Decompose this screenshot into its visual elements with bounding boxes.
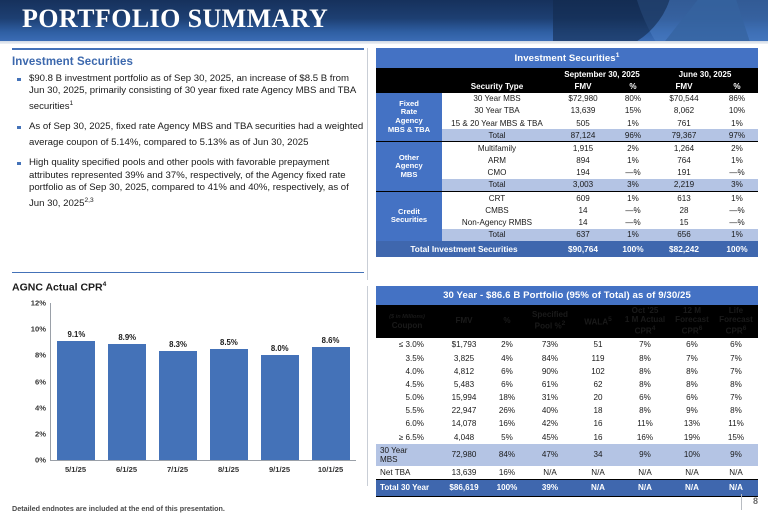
value-cell: 19% <box>670 431 714 444</box>
table-row: 4.5%5,4836%61%628%8%8% <box>376 378 758 391</box>
chart-y-tick: 10% <box>31 325 46 334</box>
value-cell: 84% <box>490 444 524 466</box>
coupon-cell: 4.5% <box>376 378 438 391</box>
value-cell: 10% <box>670 444 714 466</box>
value-cell: 6% <box>620 391 670 404</box>
chart-bar <box>159 351 197 460</box>
chart-y-tick: 12% <box>31 299 46 308</box>
value-cell: 90% <box>524 365 576 378</box>
investment-securities-grid: September 30, 2025 June 30, 2025 Securit… <box>376 68 758 257</box>
value-cell: 18% <box>490 391 524 404</box>
value-cell: 613 <box>652 192 716 205</box>
value-cell: N/A <box>714 466 758 480</box>
value-cell: 7% <box>620 338 670 351</box>
subtotal-value: 3% <box>614 179 652 192</box>
value-cell: 8% <box>670 378 714 391</box>
value-cell: 1% <box>614 155 652 167</box>
value-cell: 2% <box>490 338 524 351</box>
total-value: N/A <box>576 480 620 496</box>
chart-bar <box>261 355 299 460</box>
value-cell: 72,980 <box>438 444 490 466</box>
value-cell: —% <box>614 216 652 228</box>
value-cell: 8% <box>620 404 670 417</box>
col-header-pct-sep: % <box>614 80 652 92</box>
portfolio-col-header: ($ in Millions)Coupon <box>376 305 438 338</box>
value-cell: 3,825 <box>438 351 490 364</box>
table-row: 4.0%4,8126%90%1028%8%7% <box>376 365 758 378</box>
portfolio-total-row: Total 30 Year$86,619100%39%N/AN/AN/AN/A <box>376 480 758 496</box>
value-cell: $70,544 <box>652 93 716 105</box>
grand-total-value: $90,764 <box>552 241 614 257</box>
value-cell: 8% <box>620 351 670 364</box>
chart-y-tick: 4% <box>35 403 46 412</box>
value-cell: 4,812 <box>438 365 490 378</box>
total-value: 100% <box>490 480 524 496</box>
value-cell: 14,078 <box>438 417 490 430</box>
value-cell: 191 <box>652 167 716 179</box>
grand-total-value: 100% <box>614 241 652 257</box>
value-cell: 16% <box>620 431 670 444</box>
table-title-text: Investment Securities <box>514 53 615 64</box>
value-cell: 9% <box>620 444 670 466</box>
value-cell: 16 <box>576 417 620 430</box>
portfolio-30yr-table: 30 Year - $86.6 B Portfolio (95% of Tota… <box>376 286 758 497</box>
vertical-divider-bottom <box>367 286 368 486</box>
table-row: 5.5%22,94726%40%188%9%8% <box>376 404 758 417</box>
banner-underline <box>0 41 768 44</box>
value-cell: 62 <box>576 378 620 391</box>
value-cell: 1,915 <box>552 142 614 155</box>
grand-total-label: Total Investment Securities <box>376 241 552 257</box>
chart-bar-label: 8.9% <box>118 333 136 342</box>
subtotal-label: Total <box>442 229 552 241</box>
subtotal-value: 1% <box>716 229 758 241</box>
value-cell: 14 <box>552 216 614 228</box>
value-cell: 14 <box>552 204 614 216</box>
subtotal-value: 79,367 <box>652 129 716 142</box>
value-cell: 4,048 <box>438 431 490 444</box>
value-cell: 6% <box>490 365 524 378</box>
table-row: 5.0%15,99418%31%206%6%7% <box>376 391 758 404</box>
coupon-cell: 30 Year MBS <box>376 444 438 466</box>
value-cell: N/A <box>670 466 714 480</box>
value-cell: 8,062 <box>652 105 716 117</box>
value-cell: 16% <box>490 466 524 480</box>
horizontal-divider-left <box>12 272 364 273</box>
table-title: Investment Securities1 <box>376 48 758 68</box>
subtotal-value: 3% <box>716 179 758 192</box>
value-cell: 86% <box>716 93 758 105</box>
chart-x-axis: 5/1/256/1/257/1/258/1/259/1/2510/1/25 <box>50 465 356 474</box>
vertical-divider-top <box>367 48 368 280</box>
value-cell: 119 <box>576 351 620 364</box>
list-item: As of Sep 30, 2025, fixed rate Agency MB… <box>12 121 364 149</box>
value-cell: N/A <box>620 466 670 480</box>
portfolio-col-header: % <box>490 305 524 338</box>
security-type-cell: Non-Agency RMBS <box>442 216 552 228</box>
spacer-cell <box>376 68 442 80</box>
page-number-divider <box>741 494 742 510</box>
table-row: 30 Year MBS72,98084%47%349%10%9% <box>376 444 758 466</box>
value-cell: 6% <box>670 391 714 404</box>
spacer-cell-2 <box>442 68 552 80</box>
value-cell: 5% <box>490 431 524 444</box>
value-cell: 7% <box>714 365 758 378</box>
investment-securities-body: FixedRateAgencyMBS & TBA30 Year MBS$72,9… <box>376 93 758 257</box>
value-cell: 6% <box>670 338 714 351</box>
chart-bar <box>312 347 350 460</box>
table-row: FixedRateAgencyMBS & TBA30 Year MBS$72,9… <box>376 93 758 105</box>
value-cell: 42% <box>524 417 576 430</box>
value-cell: $1,793 <box>438 338 490 351</box>
coupon-cell: Net TBA <box>376 466 438 480</box>
portfolio-header-row: ($ in Millions)CouponFMV%SpecifiedPool %… <box>376 305 758 338</box>
value-cell: 11% <box>620 417 670 430</box>
value-cell: 102 <box>576 365 620 378</box>
chart-bar-column: 8.3% <box>159 303 197 460</box>
value-cell: 10% <box>716 105 758 117</box>
bullet-superscript: 1 <box>70 100 74 107</box>
value-cell: 16 <box>576 431 620 444</box>
chart-title: AGNC Actual CPR4 <box>12 281 364 294</box>
total-value: 39% <box>524 480 576 496</box>
subtotal-value: 3,003 <box>552 179 614 192</box>
bullet-text: $90.8 B investment portfolio as of Sep 3… <box>29 73 356 112</box>
value-cell: 80% <box>614 93 652 105</box>
table-row: ≤ 3.0%$1,7932%73%517%6%6% <box>376 338 758 351</box>
chart-bar-column: 8.5% <box>210 303 248 460</box>
total-value: N/A <box>620 480 670 496</box>
value-cell: 61% <box>524 378 576 391</box>
subtotal-label: Total <box>442 179 552 192</box>
value-cell: —% <box>716 204 758 216</box>
chart-y-tick: 8% <box>35 351 46 360</box>
chart-bar-column: 8.0% <box>261 303 299 460</box>
value-cell: 15% <box>614 105 652 117</box>
coupon-cell: 5.5% <box>376 404 438 417</box>
value-cell: 45% <box>524 431 576 444</box>
bullet-list: $90.8 B investment portfolio as of Sep 3… <box>12 73 364 210</box>
table-header-columns: Security Type FMV % FMV % <box>376 80 758 92</box>
value-cell: 4% <box>490 351 524 364</box>
chart-bar-label: 8.5% <box>220 338 238 347</box>
period-header-jun: June 30, 2025 <box>652 68 758 80</box>
security-type-cell: 30 Year TBA <box>442 105 552 117</box>
total-value: N/A <box>670 480 714 496</box>
value-cell: 28 <box>652 204 716 216</box>
portfolio-body: ≤ 3.0%$1,7932%73%517%6%6%3.5%3,8254%84%1… <box>376 338 758 496</box>
chart-bar <box>57 341 95 460</box>
value-cell: —% <box>716 167 758 179</box>
value-cell: N/A <box>576 466 620 480</box>
bullet-text: As of Sep 30, 2025, fixed rate Agency MB… <box>29 121 363 148</box>
subtotal-value: 656 <box>652 229 716 241</box>
value-cell: 16% <box>490 417 524 430</box>
col-header-pct-jun: % <box>716 80 758 92</box>
value-cell: 5,483 <box>438 378 490 391</box>
period-header-sep: September 30, 2025 <box>552 68 652 80</box>
chart-bar-column: 9.1% <box>57 303 95 460</box>
list-item: High quality specified pools and other p… <box>12 157 364 210</box>
table-title-superscript: 1 <box>616 52 620 59</box>
chart-plot-area: 0%2%4%6%8%10%12% 9.1%8.9%8.3%8.5%8.0%8.6… <box>50 303 356 461</box>
chart-x-tick: 8/1/25 <box>210 465 248 474</box>
security-type-cell: 30 Year MBS <box>442 93 552 105</box>
value-cell: 609 <box>552 192 614 205</box>
investment-securities-text-panel: Investment Securities $90.8 B investment… <box>12 48 364 218</box>
value-cell: 47% <box>524 444 576 466</box>
security-type-cell: Multifamily <box>442 142 552 155</box>
value-cell: 9% <box>714 444 758 466</box>
value-cell: 13,639 <box>438 466 490 480</box>
bullet-superscript: 2,3 <box>84 197 93 204</box>
row-group-label: CreditSecurities <box>376 192 442 241</box>
value-cell: 2% <box>614 142 652 155</box>
value-cell: —% <box>716 216 758 228</box>
portfolio-col-header: 12 MForecastCPR6 <box>670 305 714 338</box>
security-type-cell: ARM <box>442 155 552 167</box>
security-type-cell: CMBS <box>442 204 552 216</box>
value-cell: 6% <box>490 378 524 391</box>
chart-bar-label: 8.3% <box>169 340 187 349</box>
subtotal-value: 97% <box>716 129 758 142</box>
coupon-cell: ≥ 6.5% <box>376 431 438 444</box>
agnc-actual-cpr-chart: AGNC Actual CPR4 0%2%4%6%8%10%12% 9.1%8.… <box>12 281 364 486</box>
value-cell: 7% <box>714 351 758 364</box>
grand-total-value: 100% <box>716 241 758 257</box>
table-row: Net TBA13,63916%N/AN/AN/AN/AN/A <box>376 466 758 480</box>
value-cell: 7% <box>670 351 714 364</box>
subtotal-value: 1% <box>614 229 652 241</box>
panel-top-rule <box>12 48 364 50</box>
chart-bar-column: 8.9% <box>108 303 146 460</box>
chart-title-superscript: 4 <box>103 281 107 288</box>
coupon-cell: 6.0% <box>376 417 438 430</box>
value-cell: 194 <box>552 167 614 179</box>
value-cell: 51 <box>576 338 620 351</box>
value-cell: 31% <box>524 391 576 404</box>
security-type-cell: CMO <box>442 167 552 179</box>
value-cell: —% <box>614 167 652 179</box>
chart-bar-label: 9.1% <box>68 330 86 339</box>
value-cell: —% <box>614 204 652 216</box>
value-cell: 1% <box>614 117 652 129</box>
value-cell: 73% <box>524 338 576 351</box>
table-header-periods: September 30, 2025 June 30, 2025 <box>376 68 758 80</box>
spacer-cell-3 <box>376 80 442 92</box>
chart-bar <box>108 344 146 460</box>
value-cell: 20 <box>576 391 620 404</box>
value-cell: 2% <box>716 142 758 155</box>
security-type-cell: CRT <box>442 192 552 205</box>
col-header-fmv-jun: FMV <box>652 80 716 92</box>
value-cell: 1% <box>716 117 758 129</box>
value-cell: 40% <box>524 404 576 417</box>
list-item: $90.8 B investment portfolio as of Sep 3… <box>12 73 364 113</box>
value-cell: 894 <box>552 155 614 167</box>
total-value: N/A <box>714 480 758 496</box>
portfolio-col-header: FMV <box>438 305 490 338</box>
coupon-cell: ≤ 3.0% <box>376 338 438 351</box>
value-cell: 26% <box>490 404 524 417</box>
value-cell: 8% <box>620 365 670 378</box>
value-cell: 8% <box>620 378 670 391</box>
subtotal-value: 87,124 <box>552 129 614 142</box>
value-cell: 1% <box>716 155 758 167</box>
value-cell: 8% <box>714 404 758 417</box>
grand-total-value: $82,242 <box>652 241 716 257</box>
value-cell: 1,264 <box>652 142 716 155</box>
chart-bar <box>210 349 248 460</box>
chart-bars: 9.1%8.9%8.3%8.5%8.0%8.6% <box>51 303 356 460</box>
value-cell: 9% <box>670 404 714 417</box>
subtotal-value: 2,219 <box>652 179 716 192</box>
investment-securities-table: Investment Securities1 September 30, 202… <box>376 48 758 257</box>
value-cell: 8% <box>714 378 758 391</box>
value-cell: 13% <box>670 417 714 430</box>
value-cell: 15% <box>714 431 758 444</box>
table-row: 6.0%14,07816%42%1611%13%11% <box>376 417 758 430</box>
value-cell: 15,994 <box>438 391 490 404</box>
chart-x-tick: 7/1/25 <box>159 465 197 474</box>
value-cell: 6% <box>714 338 758 351</box>
chart-x-tick: 6/1/25 <box>108 465 146 474</box>
portfolio-col-header: LifeForecastCPR6 <box>714 305 758 338</box>
total-label: Total 30 Year <box>376 480 438 496</box>
chart-y-tick: 6% <box>35 377 46 386</box>
table-row: OtherAgencyMBSMultifamily1,9152%1,2642% <box>376 142 758 155</box>
table-row: ≥ 6.5%4,0485%45%1616%19%15% <box>376 431 758 444</box>
value-cell: 34 <box>576 444 620 466</box>
value-cell: 1% <box>614 192 652 205</box>
value-cell: 764 <box>652 155 716 167</box>
panel-heading: Investment Securities <box>12 56 364 68</box>
col-header-security-type: Security Type <box>442 80 552 92</box>
value-cell: 1% <box>716 192 758 205</box>
chart-x-tick: 9/1/25 <box>261 465 299 474</box>
table-row: 3.5%3,8254%84%1198%7%7% <box>376 351 758 364</box>
value-cell: 761 <box>652 117 716 129</box>
value-cell: 8% <box>670 365 714 378</box>
portfolio-table-title: 30 Year - $86.6 B Portfolio (95% of Tota… <box>376 286 758 305</box>
portfolio-col-header: SpecifiedPool %2 <box>524 305 576 338</box>
chart-bar-column: 8.6% <box>312 303 350 460</box>
units-note: ($ in Millions) <box>378 313 436 322</box>
subtotal-value: 96% <box>614 129 652 142</box>
chart-x-tick: 10/1/25 <box>312 465 350 474</box>
value-cell: N/A <box>524 466 576 480</box>
page-title: PORTFOLIO SUMMARY <box>22 4 328 34</box>
value-cell: 13,639 <box>552 105 614 117</box>
value-cell: $72,980 <box>552 93 614 105</box>
total-value: $86,619 <box>438 480 490 496</box>
chart-x-tick: 5/1/25 <box>57 465 95 474</box>
row-group-label: FixedRateAgencyMBS & TBA <box>376 93 442 142</box>
slide: PORTFOLIO SUMMARY Investment Securities … <box>0 0 768 518</box>
coupon-cell: 4.0% <box>376 365 438 378</box>
row-group-label: OtherAgencyMBS <box>376 142 442 192</box>
footer-note: Detailed endnotes are included at the en… <box>12 504 225 513</box>
subtotal-value: 637 <box>552 229 614 241</box>
page-number: 8 <box>753 496 758 506</box>
subtotal-label: Total <box>442 129 552 142</box>
chart-y-tick: 0% <box>35 456 46 465</box>
chart-bar-label: 8.0% <box>271 344 289 353</box>
portfolio-col-header: Oct '251 M ActualCPR4 <box>620 305 670 338</box>
value-cell: 15 <box>652 216 716 228</box>
value-cell: 22,947 <box>438 404 490 417</box>
portfolio-col-header: WALA5 <box>576 305 620 338</box>
chart-y-tick: 2% <box>35 429 46 438</box>
coupon-cell: 3.5% <box>376 351 438 364</box>
coupon-cell: 5.0% <box>376 391 438 404</box>
security-type-cell: 15 & 20 Year MBS & TBA <box>442 117 552 129</box>
table-grand-total-row: Total Investment Securities$90,764100%$8… <box>376 241 758 257</box>
value-cell: 505 <box>552 117 614 129</box>
portfolio-grid: ($ in Millions)CouponFMV%SpecifiedPool %… <box>376 305 758 497</box>
value-cell: 18 <box>576 404 620 417</box>
value-cell: 7% <box>714 391 758 404</box>
table-row: CreditSecuritiesCRT6091%6131% <box>376 192 758 205</box>
bullet-text: High quality specified pools and other p… <box>29 157 349 208</box>
col-header-fmv-sep: FMV <box>552 80 614 92</box>
chart-bar-label: 8.6% <box>322 336 340 345</box>
value-cell: 84% <box>524 351 576 364</box>
value-cell: 11% <box>714 417 758 430</box>
chart-title-text: AGNC Actual CPR <box>12 282 103 294</box>
